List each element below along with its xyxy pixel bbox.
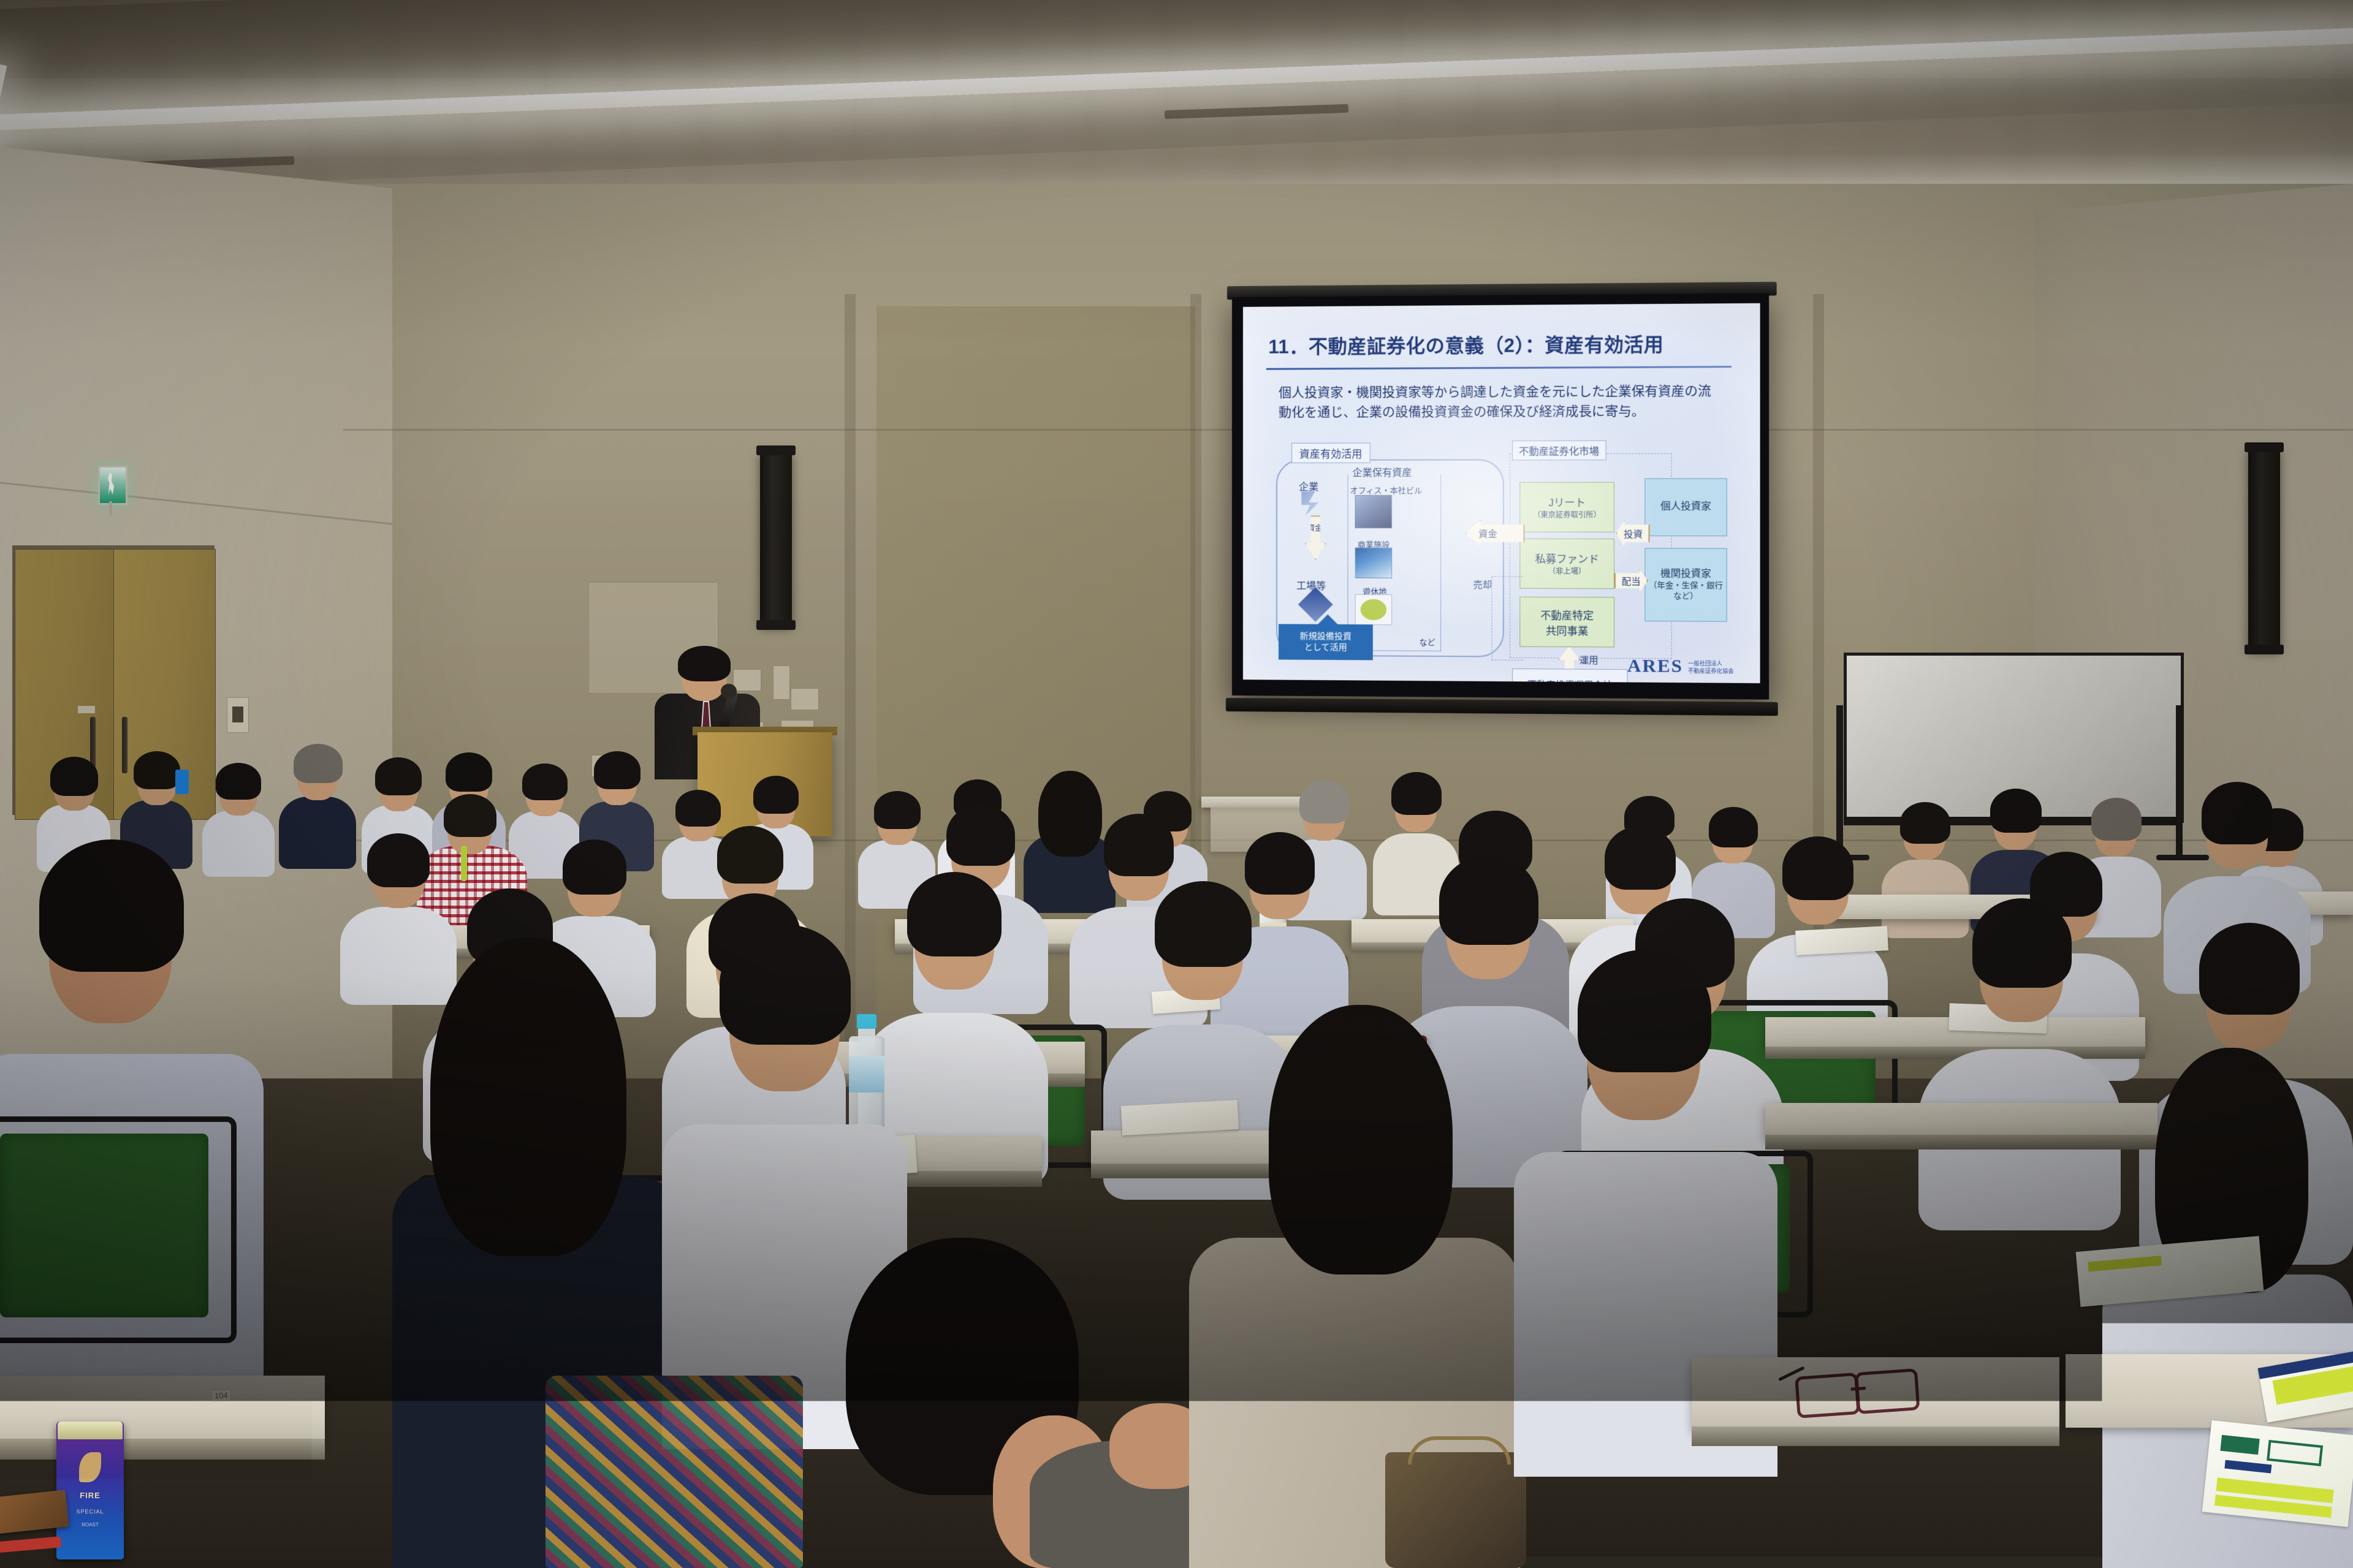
attendee-foreground-patterned	[545, 1376, 803, 1568]
wall-speaker-right	[2248, 447, 2280, 650]
glasses-lens-left	[1795, 1373, 1860, 1418]
wall-speaker-left	[760, 450, 792, 625]
management-company-box: 不動産投資運用会社	[1512, 668, 1628, 683]
private-fund-sub: （非上場）	[1548, 566, 1586, 577]
market-box-private-fund: 私募ファンド （非上場）	[1519, 539, 1614, 589]
presenter-hair	[678, 646, 731, 681]
slide-lead-text: 個人投資家・機関投資家等から調達した資金を元にした企業保有資産の流動化を通じ、企…	[1279, 381, 1724, 423]
market-box-tokutei-kyodo: 不動産特定 共同事業	[1519, 597, 1614, 648]
new-capex-line1: 新規設備投資	[1300, 631, 1351, 642]
lecture-hall-photo: 11．不動産証券化の意義（2）：資産有効活用 個人投資家・機関投資家等から調達し…	[0, 0, 2353, 1568]
ares-logo-sub1: 一般社団法人	[1688, 661, 1734, 668]
wall-control-plate[interactable]	[773, 665, 790, 700]
new-capex-line2: として活用	[1304, 642, 1347, 653]
chair-frame	[0, 1116, 237, 1343]
jreit-sub: （東京証券取引所）	[1533, 510, 1601, 520]
commercial-facility-thumbnail	[1355, 548, 1393, 578]
corporate-assets-label: 企業保有資産	[1353, 464, 1412, 479]
ares-logo-sub2: 不動産証券化協会	[1688, 667, 1734, 675]
tokutei-name: 不動産特定	[1540, 607, 1594, 623]
desk-edge	[1692, 1426, 2059, 1446]
factory-label: 工場等	[1296, 577, 1326, 592]
wall-sign-plate	[791, 688, 819, 710]
dividend-arrow-caption: 配当	[1622, 575, 1641, 588]
sale-caption: 売却	[1473, 578, 1492, 591]
individual-investor-label: 個人投資家	[1660, 501, 1711, 513]
flame-icon	[79, 1452, 101, 1483]
eyeglasses	[1795, 1368, 1920, 1412]
corp-label: 企業	[1299, 479, 1318, 493]
institutional-investor-label: 機関投資家	[1660, 567, 1711, 580]
desk-number-label: 104	[211, 1389, 232, 1402]
ceiling-plane	[0, 0, 2353, 197]
ares-logo-mark: ARES	[1627, 656, 1683, 677]
attendee	[1918, 882, 2121, 1225]
asset-office-label: オフィス・本社ビル	[1350, 484, 1422, 496]
desk-edge	[0, 1439, 325, 1460]
handbag	[1385, 1452, 1526, 1568]
jreit-name: Jリート	[1548, 494, 1586, 509]
management-arrow-caption: 運用	[1579, 654, 1598, 667]
slide-title-rule	[1266, 366, 1731, 370]
can-lid	[58, 1422, 123, 1439]
idle-land-thumbnail	[1355, 594, 1393, 626]
handout-paper	[1795, 926, 1888, 955]
emergency-exit-icon	[98, 466, 127, 505]
door-plate	[78, 706, 95, 713]
handbag-handle	[1408, 1436, 1511, 1464]
projection-screen: 11．不動産証券化の意義（2）：資産有効活用 個人投資家・機関投資家等から調達し…	[1232, 293, 1769, 699]
private-fund-name: 私募ファンド	[1535, 550, 1598, 566]
office-building-thumbnail	[1355, 495, 1393, 528]
handout-brochure	[2202, 1420, 2353, 1527]
microphone-head	[721, 684, 737, 699]
light-switch-panel[interactable]	[227, 697, 249, 733]
desk	[1765, 1103, 2157, 1138]
coffee-can: FIRE SPECIAL ROAST	[56, 1422, 124, 1559]
desk-edge	[1765, 1135, 2157, 1149]
desk-foreground	[0, 1376, 325, 1443]
glasses-lens-right	[1855, 1368, 1920, 1414]
presentation-slide: 11．不動産証券化の意義（2）：資産有効活用 個人投資家・機関投資家等から調達し…	[1243, 303, 1760, 683]
investment-arrow-caption: 投資	[1624, 527, 1643, 540]
tokutei-sub: 共同事業	[1546, 622, 1589, 638]
slide-title: 11．不動産証券化の意義（2）：資産有効活用	[1268, 328, 1663, 358]
sale-dashed-path	[1491, 576, 1523, 660]
investor-box-institutional: 機関投資家 （年金・生保・銀行など）	[1644, 548, 1727, 621]
ares-logo: ARES 一般社団法人 不動産証券化協会	[1627, 656, 1734, 678]
asset-utilization-tag: 資産有効活用	[1291, 442, 1370, 463]
exit-sign-mount	[109, 501, 112, 516]
funds-arrow-caption: 資金	[1478, 527, 1497, 540]
asset-etc-label: など	[1419, 636, 1435, 648]
market-box-jreit: Jリート （東京証券取引所）	[1519, 482, 1614, 532]
securitization-market-label: 不動産証券化市場	[1512, 441, 1606, 461]
new-capex-callout: 新規設備投資 として活用	[1279, 624, 1373, 660]
institutional-investor-sub: （年金・生保・銀行など）	[1645, 581, 1727, 602]
can-brand: FIRE	[56, 1491, 124, 1500]
investor-box-individual: 個人投資家	[1644, 478, 1727, 536]
